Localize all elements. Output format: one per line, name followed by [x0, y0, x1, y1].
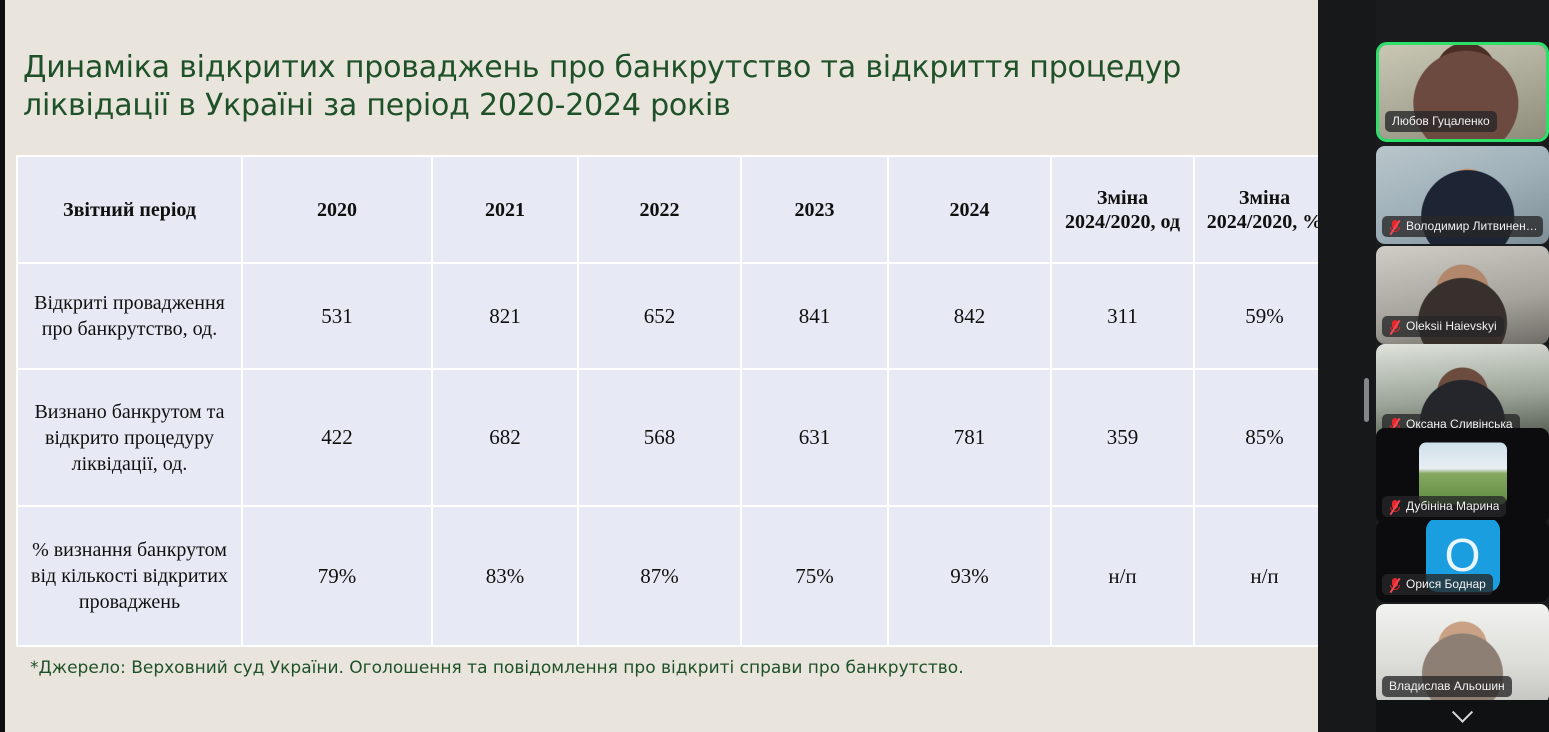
cell-2022: 652 — [578, 263, 741, 369]
participant-name-pill: Дубініна Марина — [1382, 496, 1506, 517]
table-header-row: Звітний період 2020 2021 2022 2023 2024 … — [17, 156, 1318, 263]
table-row: Відкриті провадження про банкрутство, од… — [17, 263, 1318, 369]
filmstrip-scroll-down-button[interactable] — [1376, 700, 1549, 732]
cell-change-units: н/п — [1051, 506, 1194, 646]
microphone-muted-icon — [1389, 578, 1401, 592]
column-header-change-units: Зміна 2024/2020, од — [1051, 156, 1194, 263]
cell-change-percent: 59% — [1194, 263, 1318, 369]
column-header-2020: 2020 — [242, 156, 432, 263]
table-row: % визнання банкрутом від кількості відкр… — [17, 506, 1318, 646]
participant-name: Володимир Литвинен… — [1406, 216, 1536, 237]
cell-2020: 79% — [242, 506, 432, 646]
column-header-2022: 2022 — [578, 156, 741, 263]
participant-tile[interactable]: ООрися Боднар — [1376, 520, 1549, 602]
participant-name-pill: Володимир Литвинен… — [1382, 216, 1543, 237]
participant-name: Oleksii Haievskyi — [1406, 316, 1497, 337]
participant-tile[interactable]: Владислав Альошин — [1376, 604, 1549, 704]
cell-change-percent: н/п — [1194, 506, 1318, 646]
cell-2021: 821 — [432, 263, 578, 369]
cell-2020: 531 — [242, 263, 432, 369]
slide-title: Динаміка відкритих проваджень про банкру… — [23, 49, 1203, 125]
column-header-period: Звітний період — [17, 156, 242, 263]
participant-name: Владислав Альошин — [1389, 676, 1505, 697]
meeting-screen-share-window: Динаміка відкритих проваджень про банкру… — [0, 0, 1549, 732]
column-header-2023: 2023 — [741, 156, 888, 263]
presentation-slide: Динаміка відкритих проваджень про банкру… — [5, 0, 1318, 732]
cell-2022: 87% — [578, 506, 741, 646]
microphone-muted-icon — [1389, 320, 1401, 334]
participant-name-pill: Орися Боднар — [1382, 574, 1493, 595]
participant-name: Любов Гуцаленко — [1392, 111, 1490, 132]
cell-change-percent: 85% — [1194, 369, 1318, 506]
cell-2022: 568 — [578, 369, 741, 506]
cell-2023: 75% — [741, 506, 888, 646]
column-header-2024: 2024 — [888, 156, 1051, 263]
participant-name: Дубініна Марина — [1406, 496, 1499, 517]
cell-2024: 781 — [888, 369, 1051, 506]
participant-tile[interactable]: Дубініна Марина — [1376, 428, 1549, 524]
cell-change-units: 359 — [1051, 369, 1194, 506]
cell-2024: 93% — [888, 506, 1051, 646]
participant-name-pill: Oleksii Haievskyi — [1382, 316, 1504, 337]
participants-filmstrip[interactable]: Любов ГуцаленкоВолодимир Литвинен…Oleksi… — [1376, 0, 1549, 732]
row-label: Відкриті провадження про банкрутство, од… — [17, 263, 242, 369]
cell-2021: 83% — [432, 506, 578, 646]
chevron-down-icon — [1452, 701, 1473, 722]
cell-2021: 682 — [432, 369, 578, 506]
participant-tile[interactable]: Oleksii Haievskyi — [1376, 246, 1549, 344]
participant-name-pill: Любов Гуцаленко — [1385, 111, 1497, 132]
column-header-change-percent: Зміна 2024/2020, % — [1194, 156, 1318, 263]
slide-source-note: *Джерело: Верховний суд України. Оголоше… — [30, 658, 964, 678]
table-row: Визнано банкрутом та відкрито процедуру … — [17, 369, 1318, 506]
row-label: % визнання банкрутом від кількості відкр… — [17, 506, 242, 646]
participant-name-pill: Владислав Альошин — [1382, 676, 1512, 697]
cell-change-units: 311 — [1051, 263, 1194, 369]
cell-2024: 842 — [888, 263, 1051, 369]
microphone-muted-icon — [1389, 500, 1401, 514]
participant-tile[interactable]: Любов Гуцаленко — [1376, 42, 1549, 142]
filmstrip-scrollbar-handle[interactable] — [1364, 378, 1369, 422]
screen-share-stage[interactable]: Динаміка відкритих проваджень про банкру… — [0, 0, 1318, 732]
bankruptcy-statistics-table: Звітний період 2020 2021 2022 2023 2024 … — [16, 155, 1318, 647]
cell-2023: 631 — [741, 369, 888, 506]
row-label: Визнано банкрутом та відкрито процедуру … — [17, 369, 242, 506]
microphone-muted-icon — [1389, 220, 1401, 234]
cell-2020: 422 — [242, 369, 432, 506]
cell-2023: 841 — [741, 263, 888, 369]
column-header-2021: 2021 — [432, 156, 578, 263]
participant-tile[interactable]: Володимир Литвинен… — [1376, 146, 1549, 244]
participant-name: Орися Боднар — [1406, 574, 1486, 595]
